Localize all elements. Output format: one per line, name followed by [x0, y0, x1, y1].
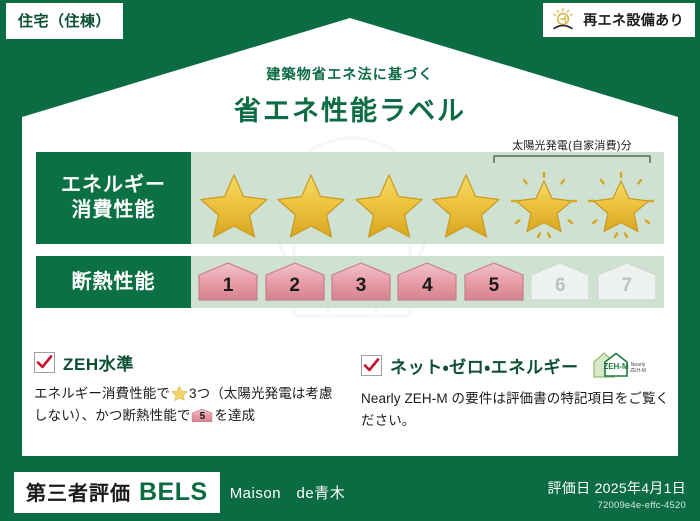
- insulation-performance-label: 断熱性能: [36, 256, 191, 308]
- grade-value: 4: [396, 275, 458, 297]
- performance-rows: エネルギー 消費性能 太陽光発電(自家消費)分: [36, 152, 664, 320]
- title-subtitle: 建築物省エネ法に基づく: [0, 64, 700, 84]
- renewable-energy-badge: 再エネ設備あり: [543, 3, 695, 37]
- bels-evaluation-badge: 第三者評価 BELS: [14, 472, 220, 513]
- zeh-m-logo-icon: ZEH-M Nearly ZEH-M: [591, 350, 649, 380]
- grade-item: 5: [463, 260, 525, 304]
- inline-star-icon: [171, 385, 188, 401]
- check-icon: [362, 356, 381, 375]
- criteria-info-section: ZEH水準 エネルギー消費性能で3つ（太陽光発電は考慮しない）、かつ断熱性能で5…: [34, 350, 670, 432]
- star-filled-icon: [198, 171, 270, 239]
- zeh-body-part1: エネルギー消費性能で: [34, 386, 170, 401]
- zeh-standard-column: ZEH水準 エネルギー消費性能で3つ（太陽光発電は考慮しない）、かつ断熱性能で5…: [34, 350, 343, 432]
- grade-item: 4: [396, 260, 458, 304]
- star-rating-group: [195, 167, 660, 241]
- grade-item: 2: [264, 260, 326, 304]
- inline-grade-value: 5: [191, 409, 213, 425]
- star-filled-icon: [430, 171, 502, 239]
- energy-label-line1: エネルギー: [61, 174, 166, 196]
- net-zero-heading: ネット・ゼロ・エネルギー ZEH-M Nearly ZEH-M: [361, 350, 670, 380]
- insulation-grade-track: 1 2 3: [191, 256, 664, 308]
- renewable-energy-label: 再エネ設備あり: [583, 10, 684, 30]
- net-zero-title: ネット・ゼロ・エネルギー: [390, 353, 579, 378]
- grade-value: 7: [596, 275, 658, 297]
- zeh-standard-title: ZEH水準: [63, 350, 134, 375]
- grade-item: 3: [330, 260, 392, 304]
- zeh-standard-heading: ZEH水準: [34, 350, 343, 375]
- star-item: [506, 169, 582, 241]
- energy-performance-row: エネルギー 消費性能 太陽光発電(自家消費)分: [36, 152, 664, 244]
- star-filled-icon: [353, 171, 425, 239]
- star-solar-icon: [508, 171, 580, 239]
- star-filled-icon: [275, 171, 347, 239]
- building-name: Maison de青木: [230, 482, 346, 503]
- zeh-standard-checkbox: [34, 352, 55, 373]
- energy-label-line2: 消費性能: [72, 199, 156, 221]
- net-zero-body: Nearly ZEH-M の要件は評価書の特記項目をご覧ください。: [361, 388, 670, 432]
- grade-item: 6: [529, 260, 591, 304]
- star-item: [196, 169, 272, 241]
- grade-value: 2: [264, 275, 326, 297]
- grade-value: 1: [197, 275, 259, 297]
- star-item: [273, 169, 349, 241]
- check-icon: [35, 353, 54, 372]
- svg-text:ZEH-M: ZEH-M: [630, 368, 646, 374]
- solar-annotation-label: 太陽光発電(自家消費)分: [484, 137, 660, 153]
- svg-text:ZEH-M: ZEH-M: [603, 362, 629, 371]
- zeh-standard-body: エネルギー消費性能で3つ（太陽光発電は考慮しない）、かつ断熱性能で5を達成: [34, 383, 343, 427]
- grade-value: 5: [463, 275, 525, 297]
- grade-item: 7: [596, 260, 658, 304]
- insulation-grade-group: 1 2 3: [195, 260, 660, 304]
- sun-icon: [550, 7, 576, 33]
- label-title-block: 建築物省エネ法に基づく 省エネ性能ラベル: [0, 64, 700, 128]
- evaluation-id: 72009e4e-effc-4520: [547, 500, 686, 511]
- evaluation-date: 評価日 2025年4月1日: [547, 478, 686, 498]
- inline-grade-badge: 5: [191, 408, 213, 423]
- star-item: [583, 169, 659, 241]
- grade-value: 3: [330, 275, 392, 297]
- building-type-tag: 住宅（住棟）: [6, 3, 123, 39]
- grade-item: 1: [197, 260, 259, 304]
- bels-energy-label: 住宅（住棟） 再エネ設備あり 建築物省エネ法に基づく 省エネ性能ラベル: [0, 0, 700, 521]
- footer-left-group: 第三者評価 BELS Maison de青木: [14, 472, 345, 513]
- footer-right-group: 評価日 2025年4月1日 72009e4e-effc-4520: [547, 478, 686, 511]
- net-zero-energy-column: ネット・ゼロ・エネルギー ZEH-M Nearly ZEH-M Nearly Z…: [361, 350, 670, 432]
- energy-star-track: 太陽光発電(自家消費)分: [191, 152, 664, 244]
- grade-value: 6: [529, 275, 591, 297]
- solar-annotation: 太陽光発電(自家消費)分: [484, 137, 660, 164]
- star-item: [351, 169, 427, 241]
- energy-performance-label: エネルギー 消費性能: [36, 152, 191, 244]
- solar-bracket-icon: [492, 154, 652, 164]
- zeh-body-part3: を達成: [214, 408, 255, 423]
- star-item: [428, 169, 504, 241]
- net-zero-checkbox: [361, 355, 382, 376]
- bels-logo-text: BELS: [139, 478, 208, 507]
- bels-japanese-label: 第三者評価: [26, 477, 131, 506]
- title-main: 省エネ性能ラベル: [0, 89, 700, 128]
- insulation-performance-row: 断熱性能 1: [36, 256, 664, 308]
- star-solar-icon: [585, 171, 657, 239]
- building-type-label: 住宅（住棟）: [18, 13, 111, 30]
